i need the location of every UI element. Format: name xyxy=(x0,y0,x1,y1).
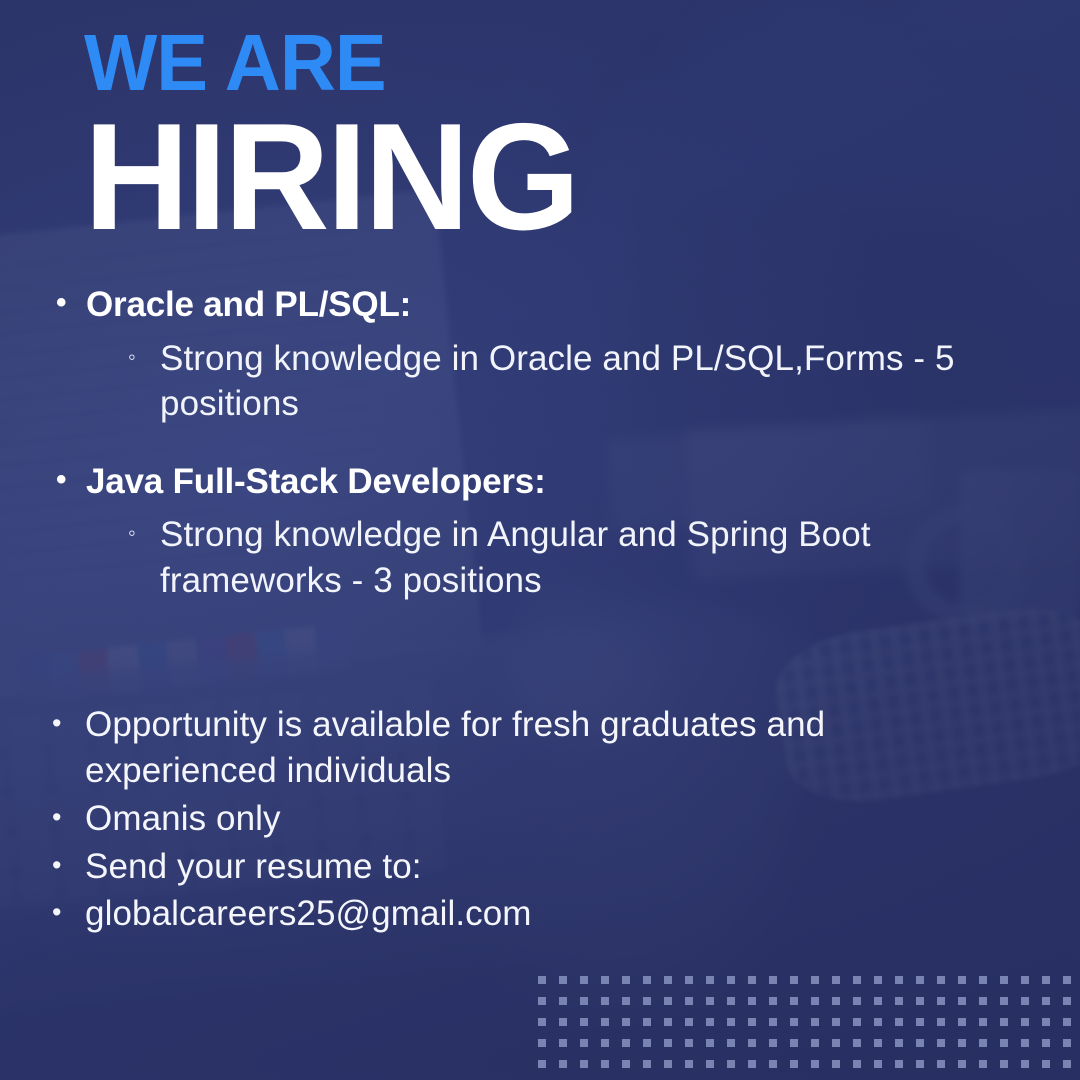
disc-bullet-icon: • xyxy=(52,844,85,888)
list-item: • Omanis only xyxy=(52,796,1012,842)
role-detail: ◦ Strong knowledge in Oracle and PL/SQL,… xyxy=(56,336,1056,427)
roles-list: • Oracle and PL/SQL: ◦ Strong knowledge … xyxy=(56,284,1056,637)
note-text: Send your resume to: xyxy=(85,844,965,890)
role-detail: ◦ Strong knowledge in Angular and Spring… xyxy=(56,512,1056,603)
note-text: Opportunity is available for fresh gradu… xyxy=(85,702,965,794)
headline-line-hiring: HIRING xyxy=(84,108,948,248)
contact-email[interactable]: globalcareers25@gmail.com xyxy=(85,891,965,937)
headline: WE ARE HIRING xyxy=(84,24,984,248)
role-detail-text: Strong knowledge in Angular and Spring B… xyxy=(160,512,1020,603)
role-heading: • Oracle and PL/SQL: xyxy=(56,284,1056,327)
notes-list: • Opportunity is available for fresh gra… xyxy=(52,702,1012,939)
poster-content: WE ARE HIRING • Oracle and PL/SQL: ◦ Str… xyxy=(0,0,1080,1080)
circle-bullet-icon: ◦ xyxy=(128,336,160,379)
note-text: Omanis only xyxy=(85,796,965,842)
disc-bullet-icon: • xyxy=(56,284,86,322)
role-block: • Oracle and PL/SQL: ◦ Strong knowledge … xyxy=(56,284,1056,427)
list-item: • globalcareers25@gmail.com xyxy=(52,891,1012,937)
headline-line-we-are: WE ARE xyxy=(84,24,957,102)
role-heading: • Java Full-Stack Developers: xyxy=(56,461,1056,504)
hiring-poster: WE ARE HIRING • Oracle and PL/SQL: ◦ Str… xyxy=(0,0,1080,1080)
role-block: • Java Full-Stack Developers: ◦ Strong k… xyxy=(56,461,1056,604)
list-item: • Opportunity is available for fresh gra… xyxy=(52,702,1012,794)
circle-bullet-icon: ◦ xyxy=(128,512,160,555)
disc-bullet-icon: • xyxy=(56,461,86,499)
disc-bullet-icon: • xyxy=(52,796,85,840)
disc-bullet-icon: • xyxy=(52,702,85,746)
role-title: Java Full-Stack Developers: xyxy=(86,461,546,504)
list-item: • Send your resume to: xyxy=(52,844,1012,890)
role-title: Oracle and PL/SQL: xyxy=(86,284,411,327)
role-detail-text: Strong knowledge in Oracle and PL/SQL,Fo… xyxy=(160,336,1020,427)
disc-bullet-icon: • xyxy=(52,891,85,935)
